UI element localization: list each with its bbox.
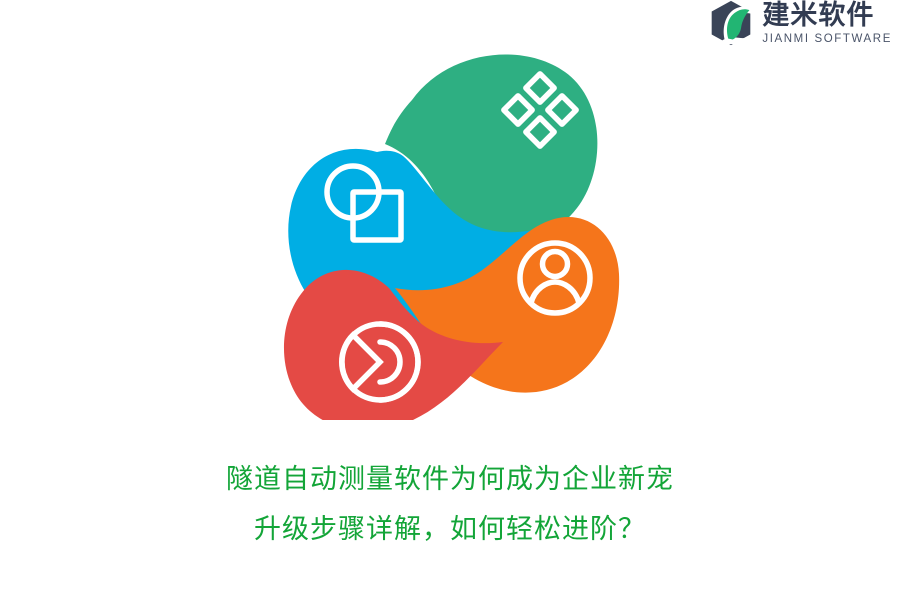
- title-line-1: 隧道自动测量软件为何成为企业新宠: [0, 455, 900, 505]
- four-petal-pinwheel-graphic: [265, 40, 635, 420]
- brand-text-group: 建米软件 JIANMI SOFTWARE: [762, 0, 892, 46]
- brand-name-en: JIANMI SOFTWARE: [762, 32, 892, 46]
- pinwheel-illustration-svg: [265, 40, 635, 420]
- brand-name-cn: 建米软件: [762, 1, 892, 30]
- title-line-2: 升级步骤详解，如何轻松进阶？: [0, 505, 900, 555]
- jianmi-hexagon-leaf-logo-icon: [708, 0, 754, 46]
- page-title: 隧道自动测量软件为何成为企业新宠 升级步骤详解，如何轻松进阶？: [0, 455, 900, 555]
- brand-logo: 建米软件 JIANMI SOFTWARE: [708, 0, 892, 52]
